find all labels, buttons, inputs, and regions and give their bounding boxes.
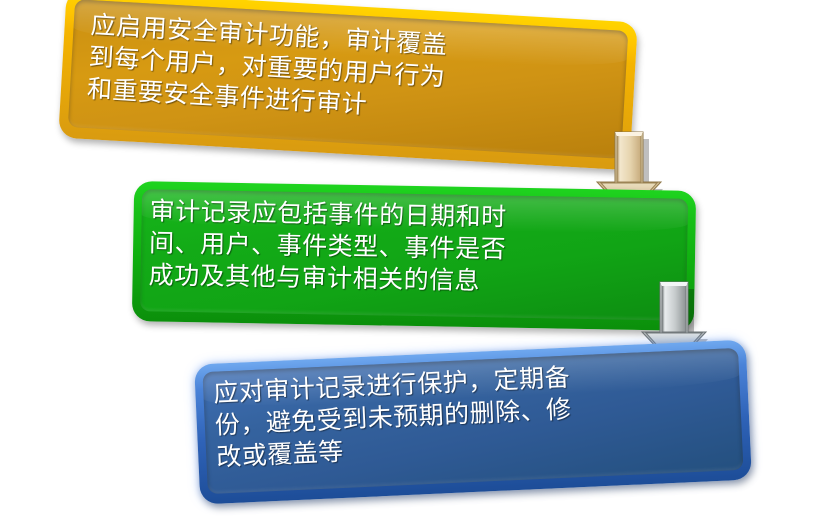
process-step-green-text: 审计记录应包括事件的日期和时 间、用户、事件类型、事件是否 成功及其他与审计相关…	[148, 195, 507, 297]
diagram-canvas: 应启用安全审计功能，审计覆盖 到每个用户，对重要的用户行为 和重要安全事件进行审…	[0, 0, 816, 524]
process-step-blue[interactable]: 应对审计记录进行保护，定期备 份，避免受到未预期的删除、修 改或覆盖等	[194, 340, 752, 505]
process-step-green[interactable]: 审计记录应包括事件的日期和时 间、用户、事件类型、事件是否 成功及其他与审计相关…	[132, 181, 696, 331]
process-step-blue-text: 应对审计记录进行保护，定期备 份，避免受到未预期的删除、修 改或覆盖等	[213, 362, 574, 474]
process-step-gold[interactable]: 应启用安全审计功能，审计覆盖 到每个用户，对重要的用户行为 和重要安全事件进行审…	[58, 0, 638, 170]
process-step-gold-text: 应启用安全审计功能，审计覆盖 到每个用户，对重要的用户行为 和重要安全事件进行审…	[86, 9, 448, 125]
